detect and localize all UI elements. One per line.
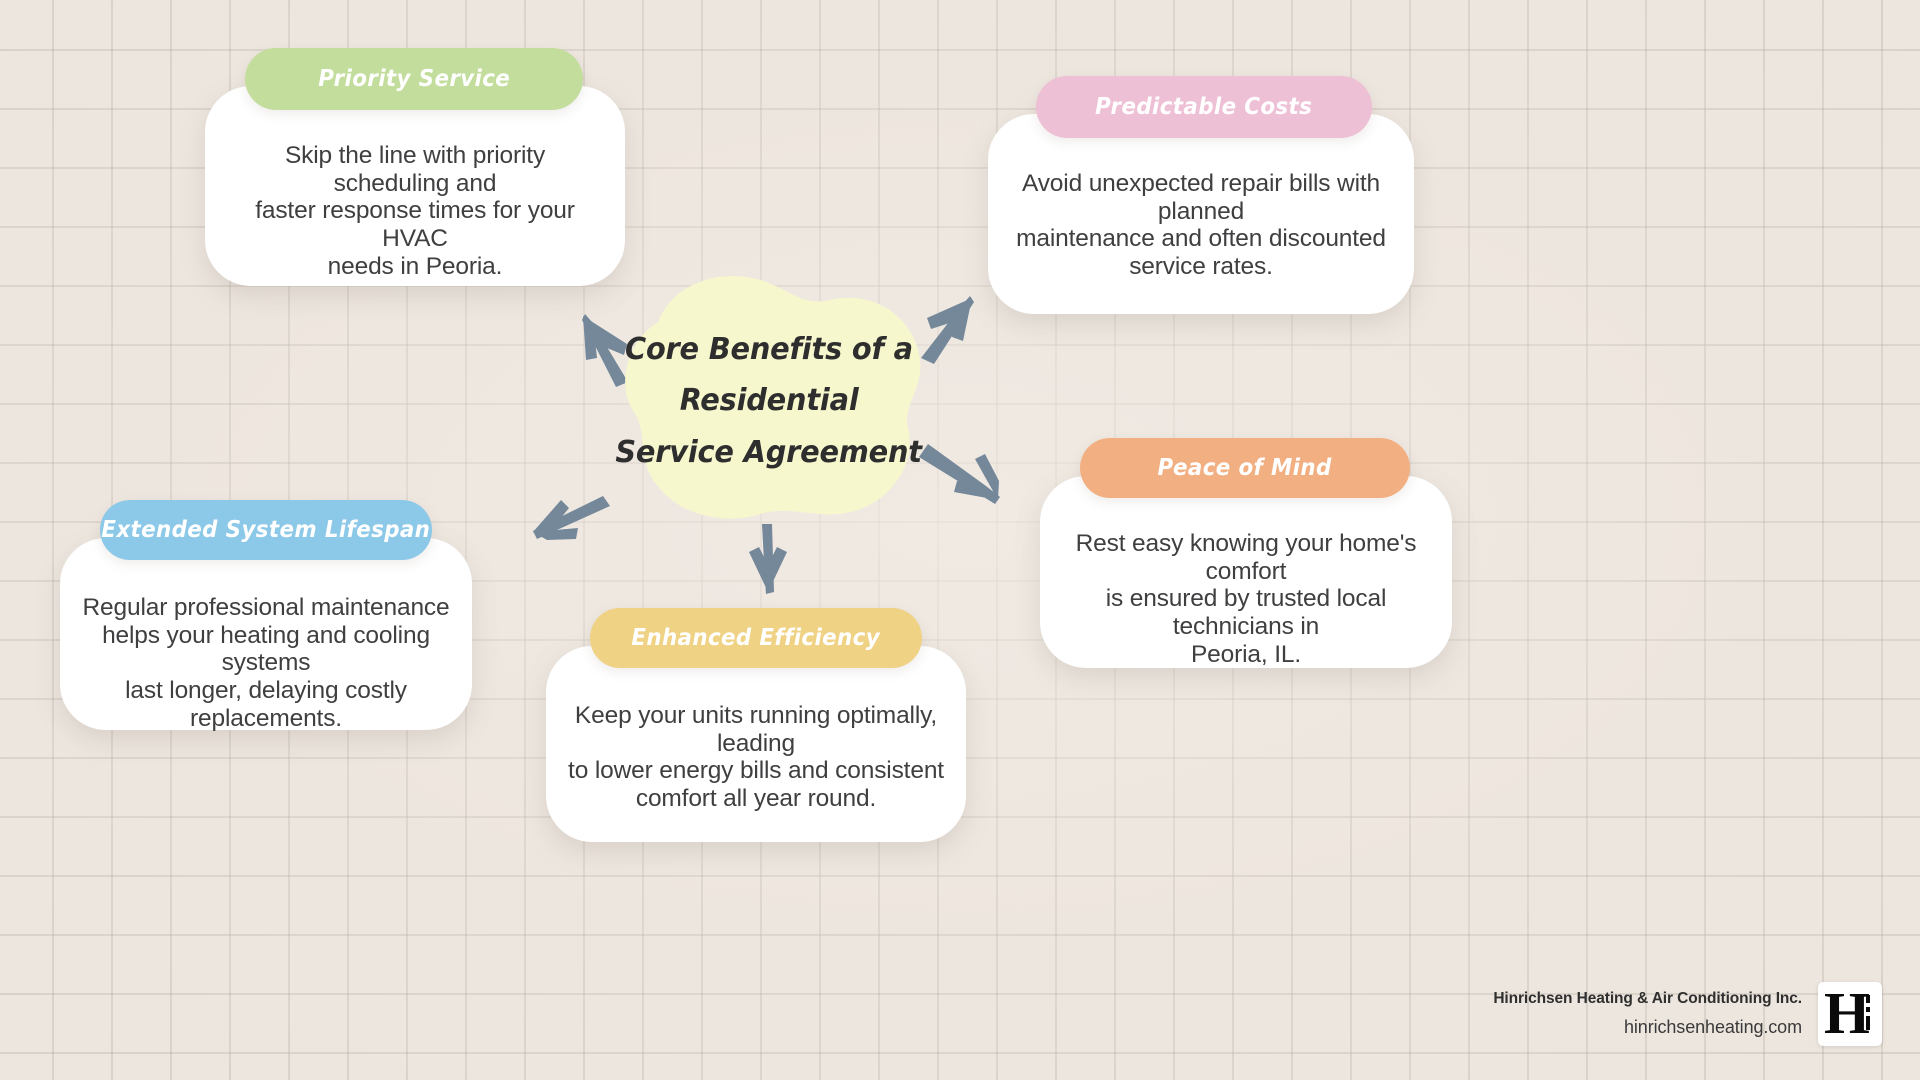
- logo-tick-icon-2: [1866, 1007, 1870, 1012]
- card-priority-service-header: Priority Service: [245, 48, 583, 110]
- card-peace-of-mind-text: Rest easy knowing your home's comfort is…: [1060, 530, 1432, 668]
- card-priority-service-body: Skip the line with priority scheduling a…: [205, 86, 625, 286]
- hinrichsen-h-logo-icon: H: [1818, 982, 1882, 1046]
- footer-website-url[interactable]: hinrichsenheating.com: [1624, 1017, 1802, 1038]
- card-peace-of-mind[interactable]: Rest easy knowing your home's comfort is…: [1040, 438, 1452, 668]
- card-predictable-costs-title: Predictable Costs: [1095, 94, 1312, 120]
- center-blob: Core Benefits of a Residential Service A…: [596, 270, 942, 528]
- card-enhanced-efficiency-text: Keep your units running optimally, leadi…: [568, 702, 944, 813]
- logo-tick-icon-1: [1866, 995, 1870, 1003]
- card-peace-of-mind-header: Peace of Mind: [1080, 438, 1410, 498]
- card-enhanced-efficiency[interactable]: Keep your units running optimally, leadi…: [546, 608, 966, 842]
- footer-text-block: Hinrichsen Heating & Air Conditioning In…: [1493, 990, 1802, 1038]
- card-extended-lifespan-text: Regular professional maintenance helps y…: [76, 594, 456, 732]
- card-priority-service-text: Skip the line with priority scheduling a…: [241, 142, 589, 280]
- card-priority-service[interactable]: Skip the line with priority scheduling a…: [205, 48, 625, 288]
- card-predictable-costs-body: Avoid unexpected repair bills with plann…: [988, 114, 1414, 314]
- footer-branding: Hinrichsen Heating & Air Conditioning In…: [1493, 982, 1882, 1046]
- card-enhanced-efficiency-title: Enhanced Efficiency: [632, 625, 881, 651]
- center-title-line-3: Service Agreement: [616, 427, 922, 479]
- card-peace-of-mind-body: Rest easy knowing your home's comfort is…: [1040, 476, 1452, 668]
- card-priority-service-title: Priority Service: [318, 66, 510, 92]
- card-peace-of-mind-title: Peace of Mind: [1158, 455, 1332, 481]
- center-blob-title: Core Benefits of a Residential Service A…: [596, 270, 942, 528]
- infographic-stage: Core Benefits of a Residential Service A…: [0, 0, 1920, 1080]
- card-predictable-costs[interactable]: Avoid unexpected repair bills with plann…: [988, 76, 1414, 316]
- card-extended-lifespan[interactable]: Regular professional maintenance helps y…: [60, 500, 472, 730]
- card-extended-lifespan-title: Extended System Lifespan: [102, 517, 431, 543]
- card-extended-lifespan-header: Extended System Lifespan: [100, 500, 432, 560]
- logo-tick-icon-3: [1866, 1016, 1870, 1030]
- logo-letter: H: [1824, 984, 1870, 1043]
- card-predictable-costs-text: Avoid unexpected repair bills with plann…: [1016, 170, 1386, 281]
- card-enhanced-efficiency-body: Keep your units running optimally, leadi…: [546, 646, 966, 842]
- card-predictable-costs-header: Predictable Costs: [1036, 76, 1372, 138]
- center-title-line-2: Residential: [680, 375, 859, 427]
- arrow-to-enhanced-efficiency: [749, 524, 787, 594]
- footer-company-name: Hinrichsen Heating & Air Conditioning In…: [1493, 990, 1802, 1008]
- card-enhanced-efficiency-header: Enhanced Efficiency: [590, 608, 922, 668]
- center-title-line-1: Core Benefits of a: [625, 324, 913, 376]
- card-extended-lifespan-body: Regular professional maintenance helps y…: [60, 538, 472, 730]
